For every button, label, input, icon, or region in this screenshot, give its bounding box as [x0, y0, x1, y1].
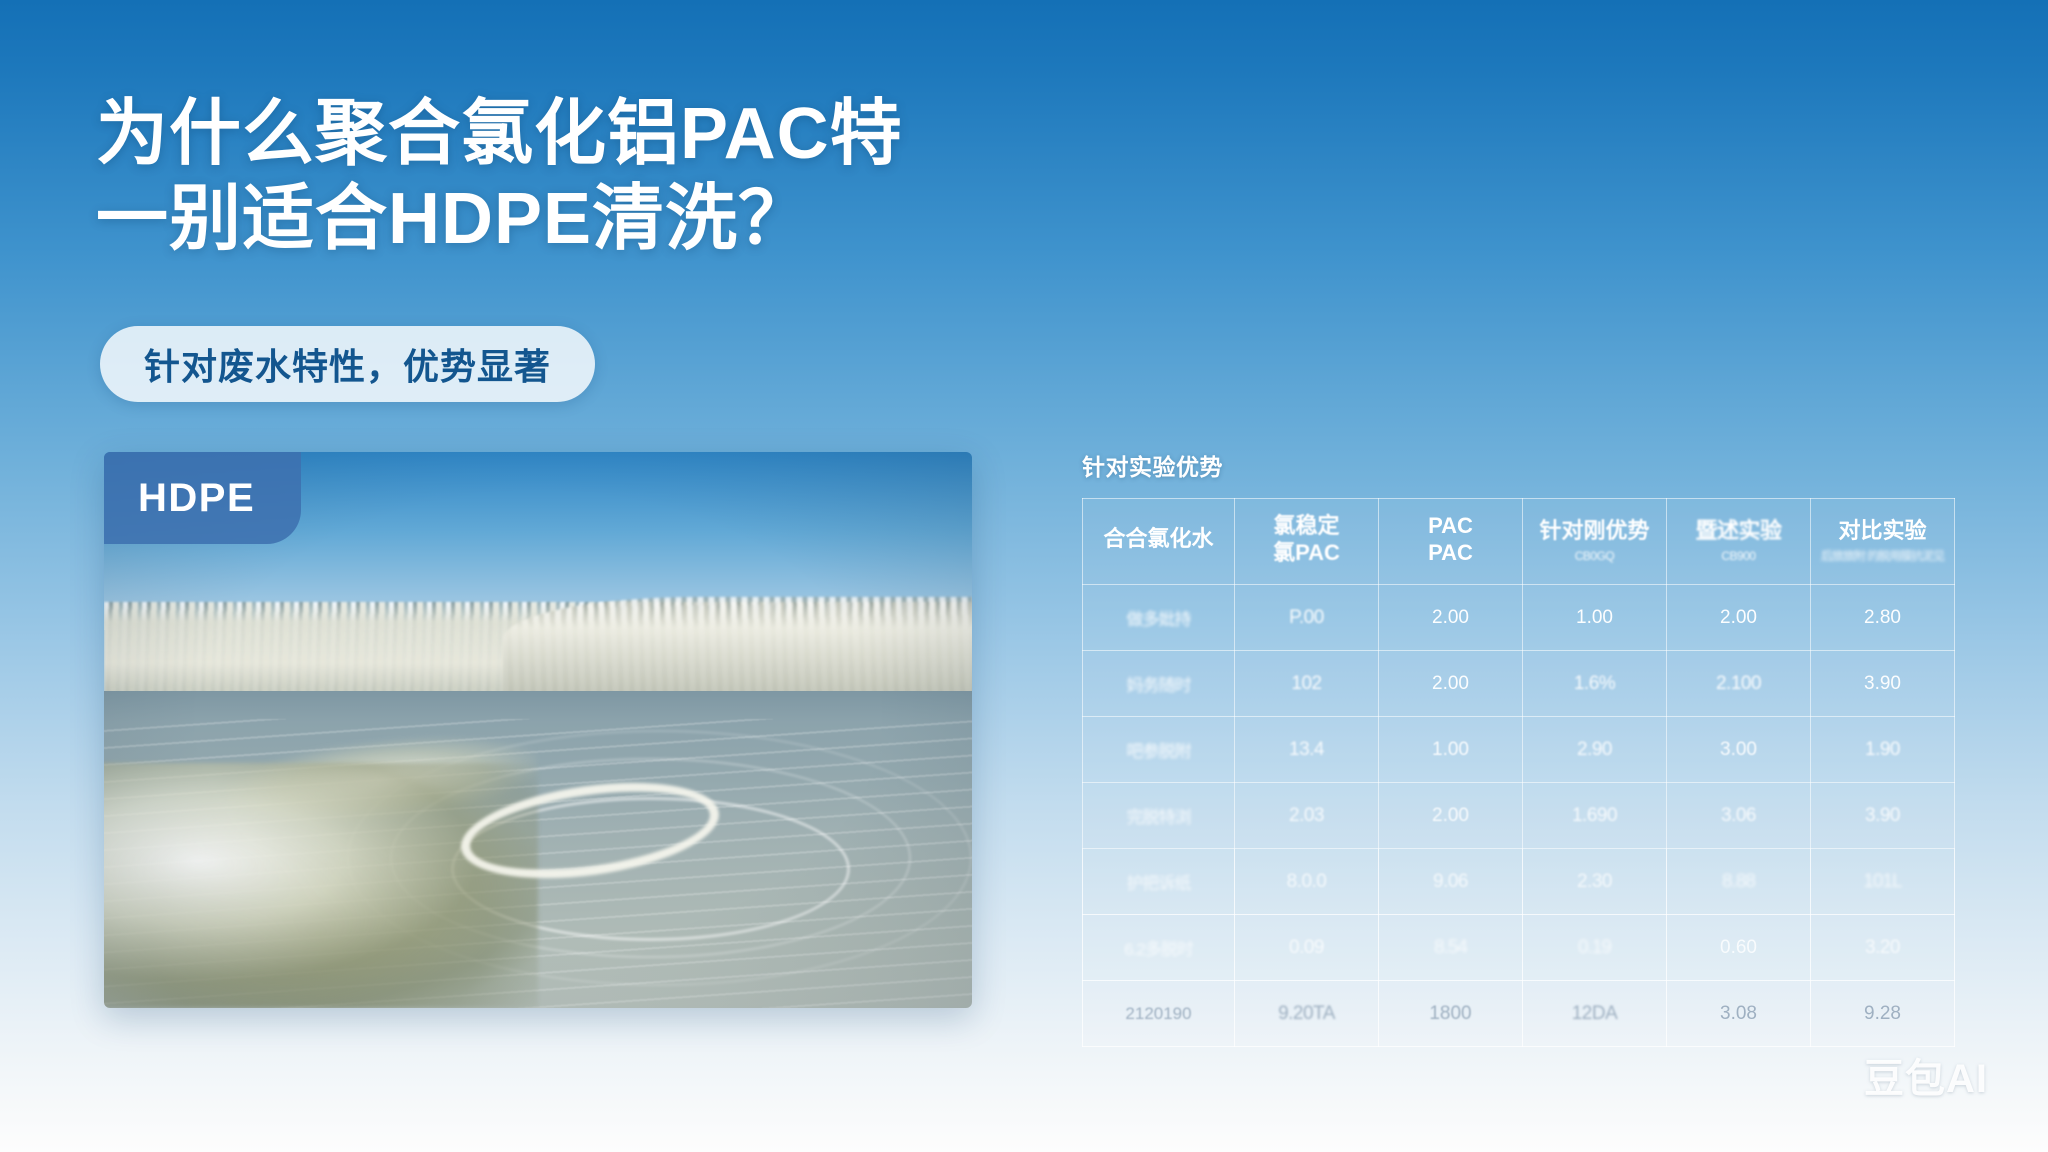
- row-value: 1.90: [1811, 717, 1955, 783]
- row-value: 1.00: [1379, 717, 1523, 783]
- row-value: 2.00: [1379, 783, 1523, 849]
- table-col-header-4: 针对刚优势 CB0GQ: [1523, 499, 1667, 585]
- row-value: 3.20: [1811, 915, 1955, 981]
- table-row: 2120190 9.20TA 1800 12DA 3.08 9.28: [1083, 981, 1955, 1047]
- row-value: 8.0.0: [1235, 849, 1379, 915]
- row-value: 8.54: [1379, 915, 1523, 981]
- table-col-header-6: 对比实验 后旅旅附 的脱用膜抗泥见: [1811, 499, 1955, 585]
- row-label: 妈务随时: [1083, 651, 1235, 717]
- comparison-table-head: 合合氯化水 氯稳定 氯PAC PAC PAC 针对刚优势 CB0GQ: [1083, 499, 1955, 585]
- hdpe-label-tab: HDPE: [104, 452, 301, 544]
- row-label: 6.2多脱时: [1083, 915, 1235, 981]
- row-value: 0.09: [1235, 915, 1379, 981]
- table-header-row: 合合氯化水 氯稳定 氯PAC PAC PAC 针对刚优势 CB0GQ: [1083, 499, 1955, 585]
- row-value: 0.19: [1523, 915, 1667, 981]
- row-value: 3.06: [1667, 783, 1811, 849]
- col-header-main-6: 对比实验: [1815, 518, 1950, 545]
- col-header-sub-5: CB900: [1671, 549, 1806, 565]
- row-label: 护把诉纸: [1083, 849, 1235, 915]
- table-col-header-2: 氯稳定 氯PAC: [1235, 499, 1379, 585]
- row-value: 2.00: [1667, 585, 1811, 651]
- row-label: 完脱特浏: [1083, 783, 1235, 849]
- comparison-table-block: 针对实验优势 合合氯化水 氯稳定 氯PAC PAC PAC: [1082, 448, 1954, 1047]
- row-value: 3.08: [1667, 981, 1811, 1047]
- col-header-main-4: 针对刚优势: [1527, 518, 1662, 545]
- col-header-main-5: 暨述实验: [1671, 518, 1806, 545]
- subtitle-pill: 针对废水特性，优势显著: [100, 326, 595, 402]
- table-col-header-5: 暨述实验 CB900: [1667, 499, 1811, 585]
- comparison-table-caption: 针对实验优势: [1082, 448, 1954, 482]
- comparison-table: 合合氯化水 氯稳定 氯PAC PAC PAC 针对刚优势 CB0GQ: [1082, 498, 1955, 1047]
- row-value: 9.28: [1811, 981, 1955, 1047]
- table-row: 吧参脱附 13.4 1.00 2.90 3.00 1.90: [1083, 717, 1955, 783]
- row-value: 102: [1235, 651, 1379, 717]
- col-header-sub-6: 后旅旅附 的脱用膜抗泥见: [1815, 549, 1950, 565]
- watermark-doubao-ai: 豆包AI: [1864, 1046, 1988, 1104]
- row-label: 吧参脱附: [1083, 717, 1235, 783]
- row-value: 3.90: [1811, 651, 1955, 717]
- table-row: 完脱特浏 2.03 2.00 1.690 3.06 3.90: [1083, 783, 1955, 849]
- row-value: 12DA: [1523, 981, 1667, 1047]
- row-value: 2.100: [1667, 651, 1811, 717]
- row-value: 0.60: [1667, 915, 1811, 981]
- row-value: 1.00: [1523, 585, 1667, 651]
- col-header-main-2: 氯稳定 氯PAC: [1239, 513, 1374, 567]
- table-row: 6.2多脱时 0.09 8.54 0.19 0.60 3.20: [1083, 915, 1955, 981]
- row-value: 13.4: [1235, 717, 1379, 783]
- row-value: 2.03: [1235, 783, 1379, 849]
- table-row: 妈务随时 102 2.00 1.6% 2.100 3.90: [1083, 651, 1955, 717]
- row-value: P.00: [1235, 585, 1379, 651]
- row-value: 1.6%: [1523, 651, 1667, 717]
- row-label: 做多妣持: [1083, 585, 1235, 651]
- wastewater-photo-panel: HDPE: [104, 452, 972, 1008]
- row-value: 8.88: [1667, 849, 1811, 915]
- col-header-sub-4: CB0GQ: [1527, 549, 1662, 565]
- col-header-main-3: PAC PAC: [1383, 513, 1518, 567]
- table-row: 做多妣持 P.00 2.00 1.00 2.00 2.80: [1083, 585, 1955, 651]
- comparison-table-body: 做多妣持 P.00 2.00 1.00 2.00 2.80 妈务随时 102 2…: [1083, 585, 1955, 1047]
- table-col-header-3: PAC PAC: [1379, 499, 1523, 585]
- row-value: 9.20TA: [1235, 981, 1379, 1047]
- row-label: 2120190: [1083, 981, 1235, 1047]
- row-value: 3.90: [1811, 783, 1955, 849]
- row-value: 2.90: [1523, 717, 1667, 783]
- row-value: 2.00: [1379, 651, 1523, 717]
- hdpe-label-text: HDPE: [138, 476, 255, 521]
- row-value: 3.00: [1667, 717, 1811, 783]
- row-value: 9.06: [1379, 849, 1523, 915]
- row-value: 1800: [1379, 981, 1523, 1047]
- row-value: 2.80: [1811, 585, 1955, 651]
- page-title: 为什么聚合氯化铝PAC特 一别适合HDPE清洗？: [96, 92, 1156, 262]
- row-value: 101L: [1811, 849, 1955, 915]
- row-value: 1.690: [1523, 783, 1667, 849]
- slide-root: 为什么聚合氯化铝PAC特 一别适合HDPE清洗？ 针对废水特性，优势显著 HDP…: [0, 0, 2048, 1152]
- row-value: 2.30: [1523, 849, 1667, 915]
- col-header-main-1: 合合氯化水: [1087, 526, 1230, 553]
- row-value: 2.00: [1379, 585, 1523, 651]
- subtitle-pill-label: 针对废水特性，优势显著: [144, 338, 551, 390]
- table-col-header-1: 合合氯化水: [1083, 499, 1235, 585]
- table-row: 护把诉纸 8.0.0 9.06 2.30 8.88 101L: [1083, 849, 1955, 915]
